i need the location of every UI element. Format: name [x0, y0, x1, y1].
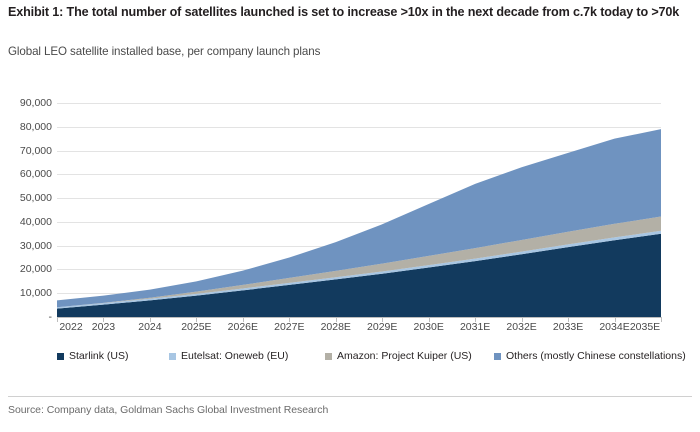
- y-axis-tick-label: 90,000: [0, 97, 52, 109]
- stacked-area-series: [57, 103, 661, 317]
- legend-label: Starlink (US): [69, 350, 129, 362]
- x-axis-tick-label: 2029E: [367, 321, 397, 333]
- y-axis-tick-label: 30,000: [0, 240, 52, 252]
- legend-swatch-icon: [169, 353, 176, 360]
- x-axis-tick-label: 2035E: [630, 321, 660, 333]
- y-axis-tick-label: 80,000: [0, 121, 52, 133]
- legend-swatch-icon: [494, 353, 501, 360]
- x-axis-labels: 2022202320242025E2026E2027E2028E2029E203…: [57, 321, 661, 337]
- chart-subtitle: Global LEO satellite installed base, per…: [8, 44, 694, 59]
- chart-legend: Starlink (US)Eutelsat: Oneweb (EU)Amazon…: [57, 350, 677, 366]
- x-axis-tick-label: 2024: [138, 321, 161, 333]
- y-axis-tick-label: -: [0, 311, 52, 323]
- x-axis-tick-label: 2023: [92, 321, 115, 333]
- chart-figure: Exhibit 1: The total number of satellite…: [0, 0, 700, 432]
- footer-divider: [8, 396, 692, 397]
- x-axis-tick-label: 2033E: [553, 321, 583, 333]
- x-axis-tick-label: 2032E: [506, 321, 536, 333]
- y-axis-tick-label: 40,000: [0, 216, 52, 228]
- legend-label: Amazon: Project Kuiper (US): [337, 350, 472, 362]
- x-axis-tick: [661, 317, 662, 322]
- source-note: Source: Company data, Goldman Sachs Glob…: [8, 404, 328, 416]
- legend-item[interactable]: Eutelsat: Oneweb (EU): [169, 350, 288, 362]
- y-axis-tick-label: 20,000: [0, 263, 52, 275]
- legend-label: Others (mostly Chinese constellations): [506, 350, 686, 362]
- legend-label: Eutelsat: Oneweb (EU): [181, 350, 288, 362]
- x-axis-tick-label: 2026E: [228, 321, 258, 333]
- x-axis-tick-label: 2034E: [599, 321, 629, 333]
- y-axis-tick-label: 50,000: [0, 192, 52, 204]
- y-axis-tick-label: 70,000: [0, 145, 52, 157]
- x-axis-tick-label: 2031E: [460, 321, 490, 333]
- legend-swatch-icon: [325, 353, 332, 360]
- y-axis-tick-label: 10,000: [0, 287, 52, 299]
- x-axis-tick-label: 2025E: [181, 321, 211, 333]
- page-title: Exhibit 1: The total number of satellite…: [8, 4, 694, 21]
- legend-item[interactable]: Starlink (US): [57, 350, 129, 362]
- x-axis-tick-label: 2030E: [414, 321, 444, 333]
- legend-swatch-icon: [57, 353, 64, 360]
- plot-area: [57, 103, 661, 317]
- legend-item[interactable]: Others (mostly Chinese constellations): [494, 350, 686, 362]
- y-axis-tick-label: 60,000: [0, 168, 52, 180]
- x-axis-tick-label: 2028E: [321, 321, 351, 333]
- legend-item[interactable]: Amazon: Project Kuiper (US): [325, 350, 472, 362]
- x-axis-tick-label: 2027E: [274, 321, 304, 333]
- y-axis-labels: -10,00020,00030,00040,00050,00060,00070,…: [0, 103, 52, 317]
- x-axis-tick-label: 2022: [59, 321, 82, 333]
